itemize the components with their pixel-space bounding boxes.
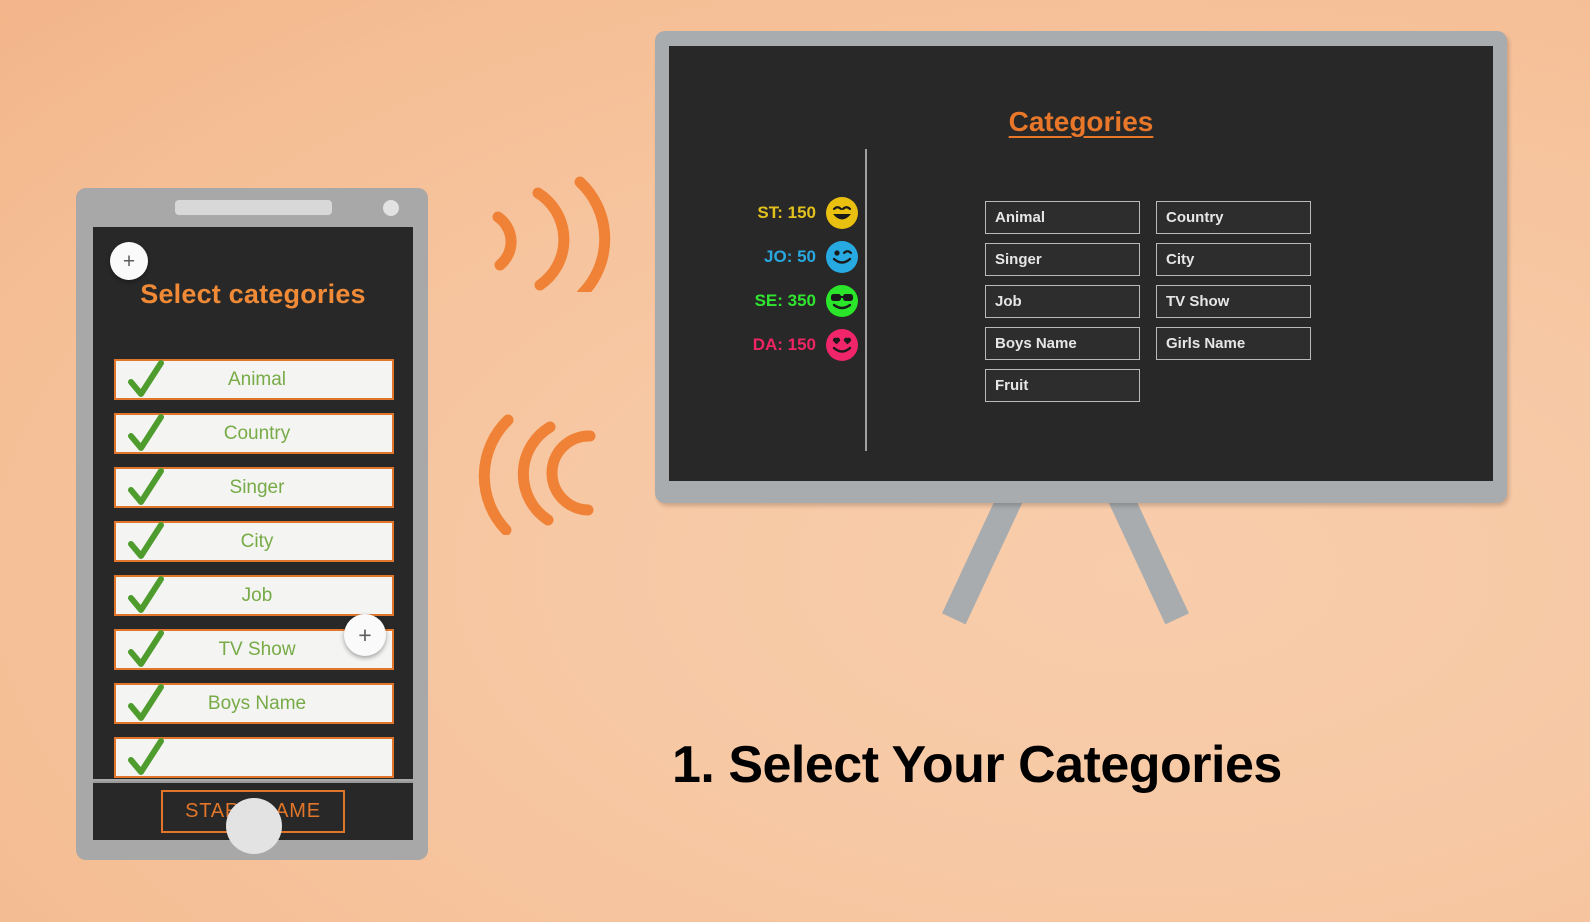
tv-score-label: DA: 150 [753, 335, 816, 355]
phone-category-item[interactable]: Country [114, 413, 394, 454]
tv-score-row: ST: 150 [689, 191, 859, 235]
phone-camera-icon [383, 200, 399, 216]
checkmark-icon [126, 358, 166, 402]
tv-category-box: City [1156, 243, 1311, 276]
tv-category-box: Fruit [985, 369, 1140, 402]
tv-vertical-divider [865, 149, 867, 451]
tv-category-box: Boys Name [985, 327, 1140, 360]
tv-category-box: Girls Name [1156, 327, 1311, 360]
heart-eyes-face-icon [825, 328, 859, 362]
phone-home-button[interactable] [226, 798, 282, 854]
checkmark-icon [126, 412, 166, 456]
checkmark-icon [126, 466, 166, 510]
tv-score-row: SE: 350 [689, 279, 859, 323]
signal-waves-bottom-icon [478, 410, 608, 535]
add-category-button-top[interactable]: + [110, 242, 148, 280]
phone-screen: Select categories AnimalCountrySingerCit… [93, 227, 413, 779]
tv-category-box: TV Show [1156, 285, 1311, 318]
tv-device: Categories ST: 150JO: 50SE: 350DA: 150 A… [655, 31, 1507, 503]
phone-category-item[interactable]: City [114, 521, 394, 562]
phone-page-title: Select categories [93, 279, 413, 310]
phone-category-item[interactable]: Animal [114, 359, 394, 400]
phone-speaker [175, 200, 332, 215]
phone-category-list: AnimalCountrySingerCityJobTV ShowBoys Na… [114, 359, 394, 779]
step-caption: 1. Select Your Categories [672, 735, 1282, 795]
tv-score-label: ST: 150 [757, 203, 816, 223]
phone-device: Select categories AnimalCountrySingerCit… [76, 188, 428, 860]
phone-category-item[interactable] [114, 737, 394, 778]
checkmark-icon [126, 682, 166, 726]
signal-waves-top-icon [482, 172, 612, 292]
add-category-button-bottom[interactable]: + [344, 614, 386, 656]
phone-category-item[interactable]: Singer [114, 467, 394, 508]
tv-category-box: Animal [985, 201, 1140, 234]
checkmark-icon [126, 574, 166, 618]
checkmark-icon [126, 628, 166, 672]
checkmark-icon [126, 736, 166, 779]
winking-face-icon [825, 240, 859, 274]
checkmark-icon [126, 520, 166, 564]
tv-stand-leg-left [942, 487, 1025, 625]
phone-category-item[interactable]: Boys Name [114, 683, 394, 724]
tv-score-row: JO: 50 [689, 235, 859, 279]
tv-scoreboard: ST: 150JO: 50SE: 350DA: 150 [689, 191, 859, 367]
tv-stand-leg-right [1106, 487, 1189, 625]
tv-score-label: SE: 350 [755, 291, 816, 311]
phone-category-item[interactable]: Job [114, 575, 394, 616]
tv-page-title: Categories [669, 106, 1493, 138]
tv-category-box: Singer [985, 243, 1140, 276]
tv-screen: Categories ST: 150JO: 50SE: 350DA: 150 A… [669, 46, 1493, 481]
tv-category-box: Job [985, 285, 1140, 318]
tv-score-row: DA: 150 [689, 323, 859, 367]
tv-category-grid: AnimalCountrySingerCityJobTV ShowBoys Na… [985, 201, 1325, 402]
scene-root: Select categories AnimalCountrySingerCit… [0, 0, 1590, 922]
grinning-face-icon [825, 196, 859, 230]
sunglasses-face-icon [825, 284, 859, 318]
tv-score-label: JO: 50 [764, 247, 816, 267]
tv-category-box: Country [1156, 201, 1311, 234]
